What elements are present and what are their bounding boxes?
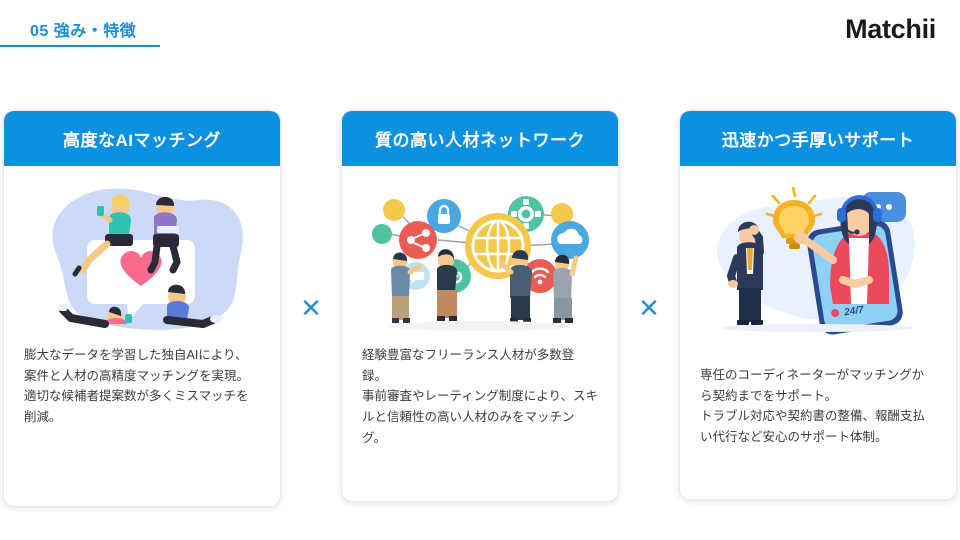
card-body-talent-network: 経験豊富なフリーランス人材が多数登録。 事前審査やレーティング制度により、スキル… (342, 339, 618, 458)
feature-cards-row: 高度なAIマッチング (0, 110, 960, 510)
separator-2: ✕ (619, 110, 679, 505)
card-title-support: 迅速かつ手厚いサポート (680, 111, 956, 166)
cross-icon: ✕ (638, 295, 660, 321)
feature-card-support[interactable]: 迅速かつ手厚いサポート (679, 110, 957, 500)
section-underline-rule (0, 45, 160, 47)
page-header: 05 強み・特徴 Matchii (0, 0, 960, 60)
illustration-customer-support-agent-phone: 24/7 (680, 166, 956, 339)
section-label: 05 強み・特徴 (30, 17, 136, 41)
feature-card-ai-matching[interactable]: 高度なAIマッチング (3, 110, 281, 507)
brand-logo: Matchii (845, 14, 936, 45)
illustration-people-around-heart-speech-bubble (4, 166, 280, 339)
card-title-ai-matching: 高度なAIマッチング (4, 111, 280, 166)
card-body-ai-matching: 膨大なデータを学習した独自AIにより、案件と人材の高精度マッチングを実現。 適切… (4, 339, 280, 438)
cross-icon: ✕ (300, 295, 322, 321)
illustration-people-network-icons (342, 166, 618, 339)
card-body-support: 専任のコーディネーターがマッチングから契約までをサポート。 トラブル対応や契約書… (680, 339, 956, 458)
card-title-talent-network: 質の高い人材ネットワーク (342, 111, 618, 166)
feature-card-talent-network[interactable]: 質の高い人材ネットワーク (341, 110, 619, 502)
separator-1: ✕ (281, 110, 341, 505)
